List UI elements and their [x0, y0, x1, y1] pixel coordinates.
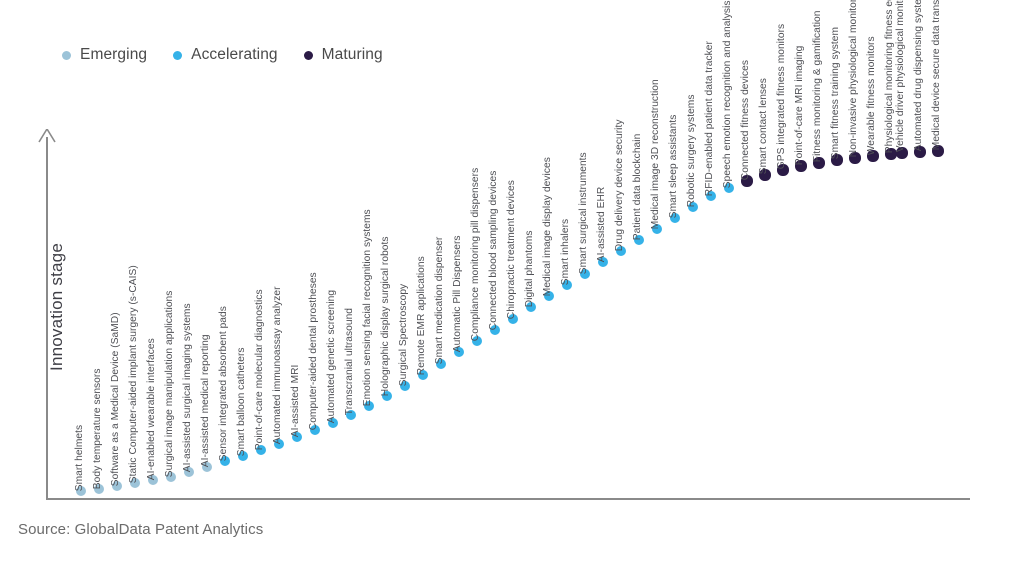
- y-axis-arrow-icon: [38, 129, 56, 143]
- legend-item-emerging[interactable]: Emerging: [62, 46, 147, 64]
- data-point-label: Automated immunoassay analyzer: [273, 286, 283, 444]
- data-point-label: Surgical Spectroscopy: [399, 284, 409, 386]
- data-point-label: Smart fitness training system: [831, 27, 841, 159]
- data-point-label: Drug delivery device security: [615, 119, 625, 251]
- data-point-label: Digital phantoms: [525, 230, 535, 307]
- data-point-label: Smart surgical instruments: [579, 152, 589, 274]
- scatter-plot-area: Smart helmetsBody temperature sensorsSof…: [0, 0, 1024, 576]
- data-point-label: Emotion sensing facial recognition syste…: [363, 209, 373, 406]
- data-point-label: AI-enabled wearable interfaces: [147, 338, 157, 480]
- data-point-label: Speech emotion recognition and analysis: [723, 0, 733, 188]
- data-point-label: Patient data blockchain: [633, 134, 643, 241]
- data-point-label: Medical device secure data transmission: [932, 0, 942, 151]
- data-point-label: Non-invasive physiological monitoring: [849, 0, 859, 158]
- data-point-label: AI-assisted MRI: [291, 364, 301, 437]
- data-point-label: Vehicle driver physiological monitoring: [896, 0, 906, 153]
- data-point-label: Surgical image manipulation applications: [165, 290, 175, 477]
- data-point-label: Computer-aided dental prostheses: [309, 272, 319, 430]
- data-point-label: AI-assisted EHR: [597, 187, 607, 262]
- data-point-label: Connected blood sampling devices: [489, 170, 499, 330]
- data-point-label: Transcranial ultrasound: [345, 308, 355, 415]
- data-point-label: Smart helmets: [75, 425, 85, 491]
- legend-item-accelerating[interactable]: Accelerating: [173, 46, 278, 64]
- data-point-label: Body temperature sensors: [93, 368, 103, 489]
- source-note: Source: GlobalData Patent Analytics: [18, 521, 263, 538]
- data-point-label: Holographic display surgical robots: [381, 236, 391, 396]
- data-point-label: Point-of-care MRI imaging: [795, 46, 805, 166]
- data-point-label: Connected fitness devices: [741, 60, 751, 180]
- data-point-label: Automated drug dispensing systems: [914, 0, 924, 152]
- data-point-label: Compliance monitoring pill dispensers: [471, 168, 481, 341]
- data-point-label: Smart sleep assistants: [669, 114, 679, 218]
- data-point-label: Smart balloon catheters: [237, 347, 247, 456]
- data-point-label: Smart inhalers: [561, 219, 571, 285]
- chart-root: EmergingAcceleratingMaturing Innovation …: [0, 0, 1024, 576]
- data-point-label: Sensor integrated absorbent pads: [219, 306, 229, 461]
- legend-item-maturing[interactable]: Maturing: [304, 46, 383, 64]
- data-point-label: Robotic surgery systems: [687, 94, 697, 207]
- data-point-label: Software as a Medical Device (SaMD): [111, 312, 121, 486]
- data-point-label: Chiropractic treatment devices: [507, 180, 517, 319]
- dot-icon: [173, 51, 182, 60]
- data-point-label: Automatic Pill Dispensers: [453, 235, 463, 352]
- data-point-label: Static Computer-aided implant surgery (s…: [129, 265, 139, 483]
- legend-label: Accelerating: [191, 46, 278, 64]
- data-point-label: Medical image 3D reconstruction: [651, 79, 661, 229]
- data-point-label: Smart medication dispenser: [435, 236, 445, 364]
- data-point-label: Medical image display devices: [543, 157, 553, 296]
- data-point-label: AI-assisted medical reporting: [201, 334, 211, 467]
- legend-label: Emerging: [80, 46, 147, 64]
- legend-label: Maturing: [322, 46, 383, 64]
- dot-icon: [62, 51, 71, 60]
- data-point-label: Smart contact lenses: [759, 78, 769, 174]
- data-point-label: Fitness monitoring & gamification: [813, 11, 823, 163]
- data-point-label: Point-of-care molecular diagnostics: [255, 289, 265, 450]
- data-point-label: Remote EMR applications: [417, 256, 427, 375]
- data-point-label: AI-assisted surgical imaging systems: [183, 303, 193, 472]
- chart-legend: EmergingAcceleratingMaturing: [62, 44, 383, 66]
- x-axis-line: [46, 498, 970, 500]
- y-axis-title: Innovation stage: [47, 207, 67, 407]
- data-point-label: Wearable fitness monitors: [867, 37, 877, 156]
- dot-icon: [304, 51, 313, 60]
- data-point-label: GPS integrated fitness monitors: [777, 24, 787, 169]
- data-point-label: Physiological monitoring fitness equipme…: [885, 0, 895, 154]
- data-point-label: RFID-enabled patient data tracker: [705, 41, 715, 196]
- data-point-label: Automated genetic screening: [327, 290, 337, 423]
